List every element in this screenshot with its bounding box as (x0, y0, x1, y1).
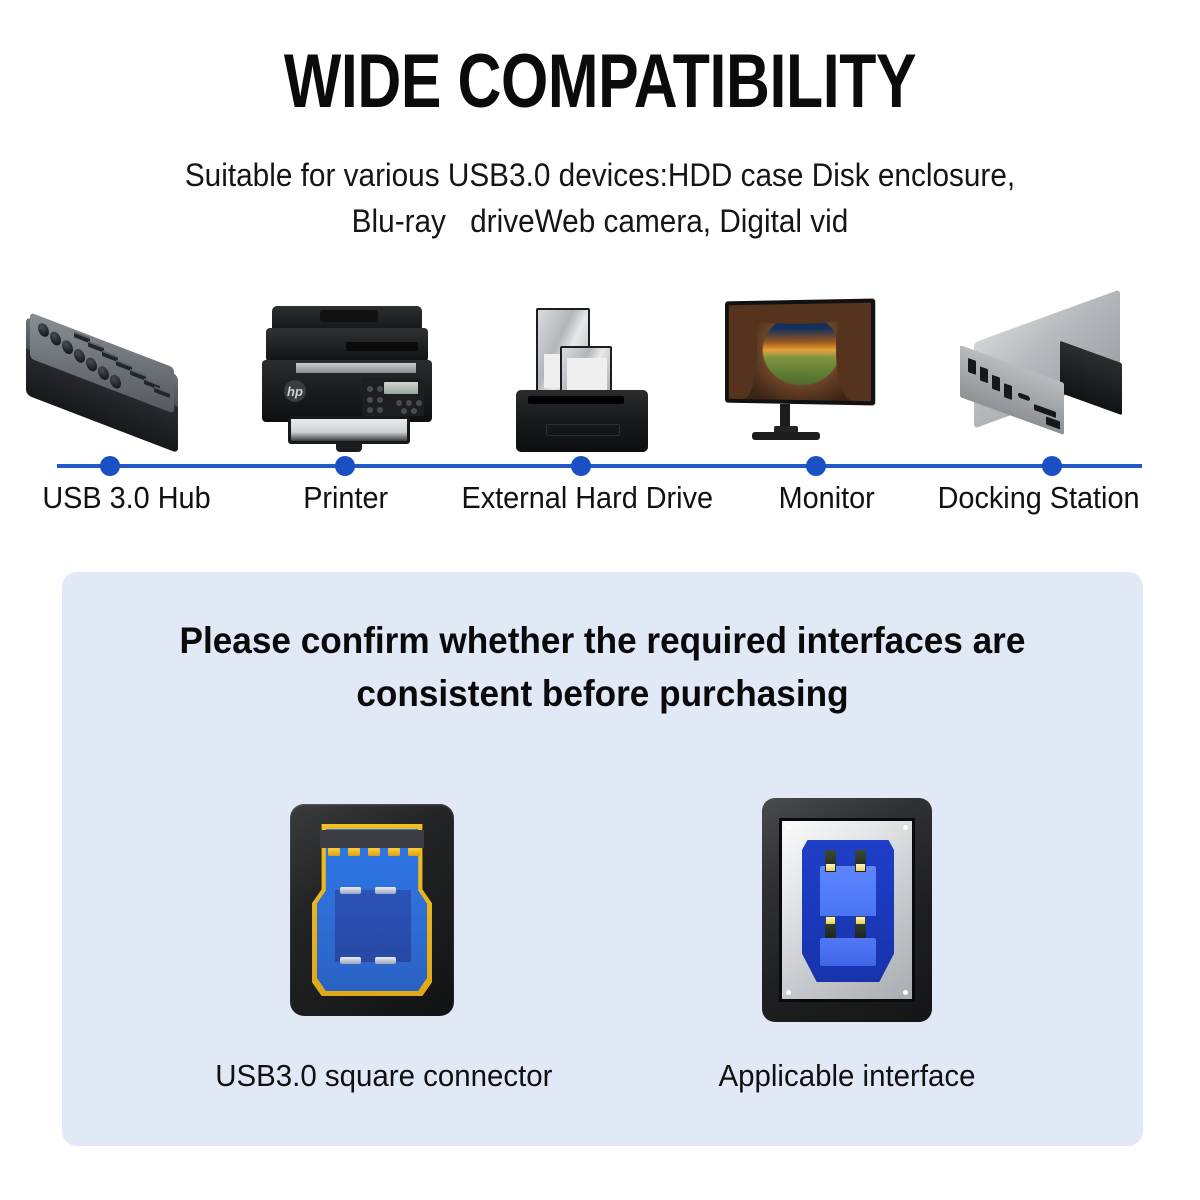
connector-caption-right: Applicable interface (690, 1058, 1004, 1094)
printer-tray-tab (336, 442, 362, 452)
device-label-usb-hub: USB 3.0 Hub (42, 480, 210, 516)
device-image-row: hp (0, 288, 1200, 458)
printer-brand-logo: hp (284, 380, 306, 402)
monitor-icon (716, 300, 882, 456)
timeline-dot-hard-drive (571, 456, 591, 476)
usb-c-port (1018, 392, 1030, 401)
hard-drive-dock-icon (498, 302, 658, 454)
device-label-row: USB 3.0 Hub Printer External Hard Drive … (0, 480, 1200, 524)
printer-scanner (266, 328, 428, 362)
infographic-page: WIDE COMPATIBILITY Suitable for various … (0, 0, 1200, 1200)
device-label-printer: Printer (303, 480, 388, 516)
usb-port (992, 375, 1000, 392)
device-label-monitor: Monitor (779, 480, 875, 516)
monitor-screen (725, 298, 875, 405)
device-timeline (0, 456, 1200, 476)
timeline-dot-printer (335, 456, 355, 476)
socket-pin (825, 916, 836, 938)
panel-heading-line-2: consistent before purchasing (89, 667, 1116, 720)
timeline-line (57, 464, 1142, 468)
timeline-dot-usb-hub (100, 456, 120, 476)
plug-inner-block (335, 890, 411, 962)
device-label-hard-drive: External Hard Drive (461, 480, 713, 516)
printer-adf (272, 306, 422, 330)
connector-caption-left: USB3.0 square connector (215, 1058, 529, 1094)
socket-contact-block-lower (820, 938, 876, 966)
usb-hub-icon (18, 320, 190, 450)
socket-pin (855, 850, 866, 872)
page-subtitle: Suitable for various USB3.0 devices:HDD … (42, 152, 1158, 244)
timeline-dot-docking-station (1042, 456, 1062, 476)
usb-port (968, 358, 976, 375)
purchase-notice-panel: Please confirm whether the required inte… (62, 572, 1143, 1146)
panel-heading: Please confirm whether the required inte… (89, 614, 1116, 720)
subtitle-line-2-part-a: Blu-ray (352, 203, 446, 239)
monitor-stand-base (752, 432, 820, 440)
printer-icon: hp (258, 304, 436, 454)
usb-port (980, 366, 988, 383)
printer-body: hp (262, 360, 432, 422)
socket-pin (855, 916, 866, 938)
subtitle-line-1: Suitable for various USB3.0 devices:HDD … (42, 152, 1158, 198)
sd-card-slot (1046, 416, 1060, 429)
usb3-b-plug-icon (290, 804, 454, 1016)
subtitle-line-2-part-b: driveWeb camera, Digital vid (470, 203, 848, 239)
device-label-docking-station: Docking Station (938, 480, 1140, 516)
dock-base (516, 390, 648, 452)
printer-control-panel (362, 378, 424, 416)
card-slot (1034, 404, 1056, 418)
page-title: WIDE COMPATIBILITY (120, 44, 1080, 120)
timeline-dot-monitor (806, 456, 826, 476)
socket-pin (825, 850, 836, 872)
printer-output-tray (288, 416, 410, 444)
docking-station-icon (952, 312, 1132, 448)
usb3-b-socket-icon (762, 798, 932, 1022)
plug-top-recess (320, 830, 424, 848)
plug-bottom-pad (352, 970, 396, 986)
socket-contact-block-upper (820, 866, 876, 916)
panel-heading-line-1: Please confirm whether the required inte… (89, 614, 1116, 667)
monitor-wallpaper (729, 303, 871, 402)
subtitle-line-2: Blu-raydriveWeb camera, Digital vid (42, 198, 1158, 244)
usb-port (1004, 383, 1012, 400)
